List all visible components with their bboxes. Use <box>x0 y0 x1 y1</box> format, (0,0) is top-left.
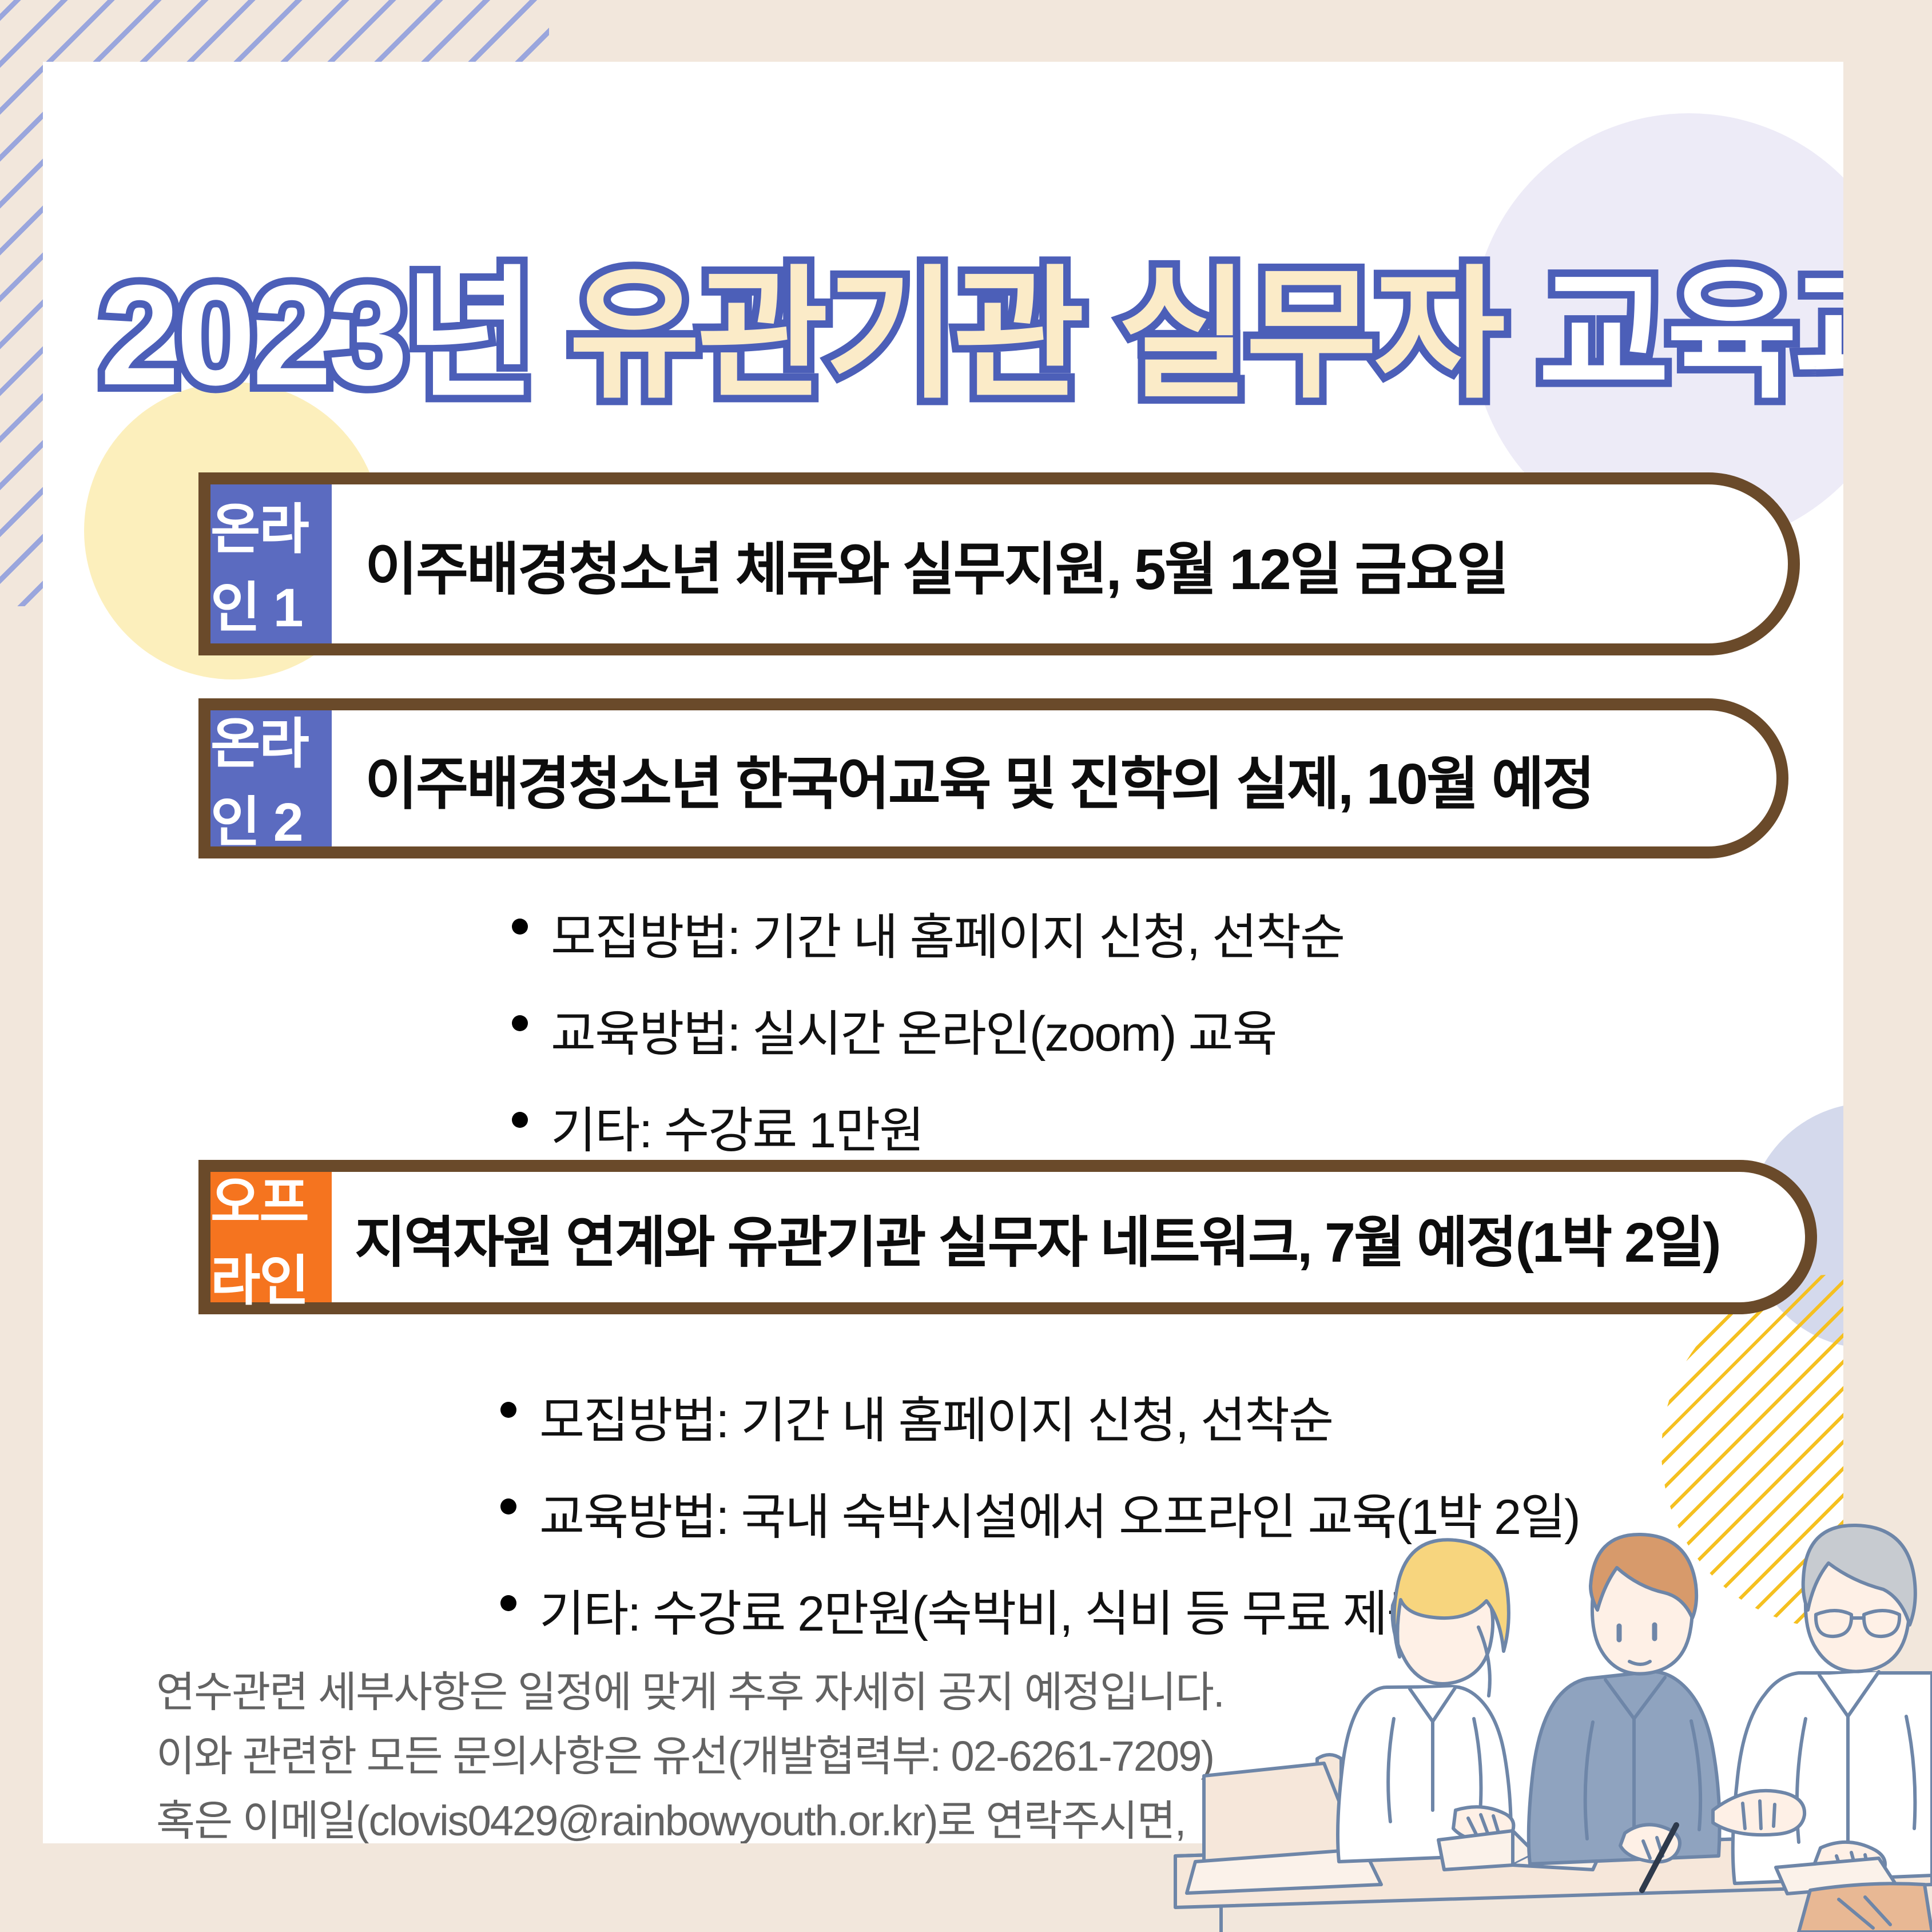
bullet-dot-icon <box>512 1112 528 1128</box>
list-item-text: 모집방법: 기간 내 홈페이지 신청, 선착순 <box>551 897 1344 968</box>
footer-line-3: 혹은 이메일(clovis0429@rainbowyouth.or.kr)로 연… <box>156 1789 1224 1843</box>
course-label-online-2: 온라인 2 <box>210 710 332 846</box>
list-item: 모집방법: 기간 내 홈페이지 신청, 선착순 <box>500 1380 1580 1452</box>
meeting-illustration <box>1135 1490 1932 1932</box>
course-text-offline: 지역자원 연계와 유관기관 실무자 네트워크, 7월 예정(1박 2일) <box>332 1172 1805 1302</box>
course-label-online-1: 온라인 1 <box>210 484 332 643</box>
bullet-dot-icon <box>500 1402 516 1418</box>
footer-note: 연수관련 세부사항은 일정에 맞게 추후 자세히 공지 예정입니다. 이와 관련… <box>156 1660 1224 1843</box>
list-item-text: 교육방법: 실시간 온라인(zoom) 교육 <box>551 993 1277 1065</box>
page-title: 2023년 유관기관 실무자 교육과정 <box>100 264 1793 407</box>
list-item: 모집방법: 기간 내 홈페이지 신청, 선착순 <box>512 897 1344 968</box>
bullet-dot-icon <box>500 1595 516 1611</box>
bullet-dot-icon <box>500 1498 516 1514</box>
title-segment-year: 2023년 <box>100 255 569 415</box>
bullet-dot-icon <box>512 1015 528 1031</box>
course-row-offline[interactable]: 오프라인 지역자원 연계와 유관기관 실무자 네트워크, 7월 예정(1박 2일… <box>198 1160 1817 1314</box>
list-item-text: 모집방법: 기간 내 홈페이지 신청, 선착순 <box>539 1380 1333 1452</box>
list-item: 교육방법: 실시간 온라인(zoom) 교육 <box>512 993 1344 1065</box>
course-label-offline: 오프라인 <box>210 1172 332 1302</box>
course-text-online-1: 이주배경청소년 체류와 실무지원, 5월 12일 금요일 <box>332 484 1788 643</box>
details-list-online: 모집방법: 기간 내 홈페이지 신청, 선착순 교육방법: 실시간 온라인(zo… <box>512 897 1344 1187</box>
footer-line-2: 이와 관련한 모든 문의사항은 유선(개발협력부: 02-6261-7209) <box>156 1724 1224 1788</box>
course-text-online-2: 이주배경청소년 한국어교육 및 진학의 실제, 10월 예정 <box>332 710 1776 846</box>
list-item: 기타: 수강료 1만원 <box>512 1090 1344 1162</box>
title-segment-org: 유관기관 실무자 <box>569 255 1502 415</box>
course-row-online-2[interactable]: 온라인 2 이주배경청소년 한국어교육 및 진학의 실제, 10월 예정 <box>198 698 1788 858</box>
title-segment-course: 교육과정 <box>1502 255 1843 415</box>
bullet-dot-icon <box>512 919 528 935</box>
course-row-online-1[interactable]: 온라인 1 이주배경청소년 체류와 실무지원, 5월 12일 금요일 <box>198 472 1800 655</box>
list-item-text: 기타: 수강료 1만원 <box>551 1090 923 1162</box>
footer-line-1: 연수관련 세부사항은 일정에 맞게 추후 자세히 공지 예정입니다. <box>156 1660 1224 1724</box>
